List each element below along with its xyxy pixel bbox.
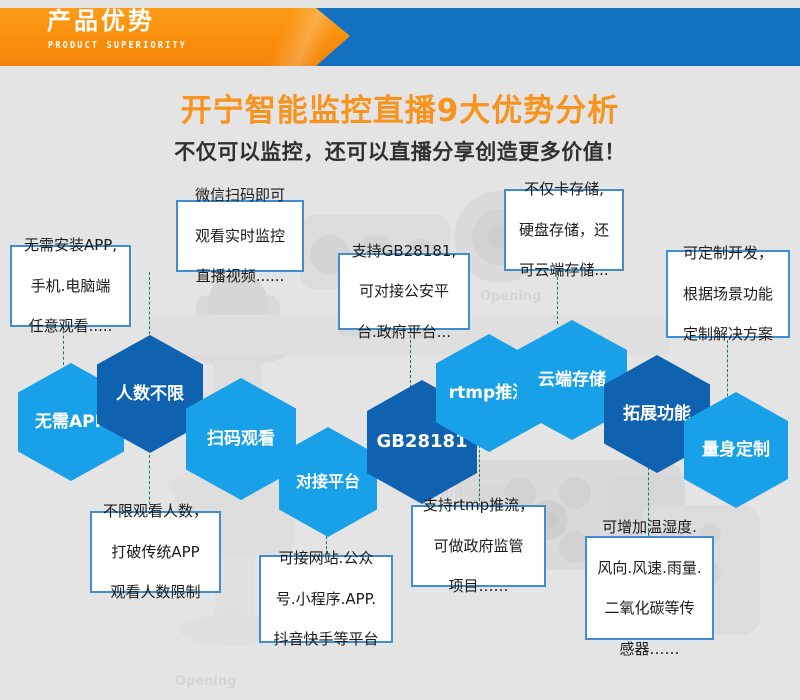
callout-cloud-storage: 不仅卡存储, 硬盘存储，还 可云端存储... (504, 189, 624, 271)
callout-no-app-text: 无需安装APP, 手机.电脑端 任意观看..... (24, 235, 117, 336)
callout-gb28181: 支持GB28181, 可对接公安平 台.政府平台... (338, 253, 470, 330)
hex-label-gb28181: GB28181 (372, 432, 471, 452)
product-superiority-infographic: 产品优势 PRODUCT SUPERIORITY 开宁智能监控直播9大优势分析 … (0, 0, 800, 700)
callout-sensors: 可增加温湿度. 风向.风速.雨量. 二氧化碳等传 感器…… (585, 536, 714, 640)
callout-cloud-storage-text: 不仅卡存储, 硬盘存储，还 可云端存储... (519, 179, 609, 280)
callout-sensors-text: 可增加温湿度. 风向.风速.雨量. 二氧化碳等传 感器…… (597, 517, 701, 659)
hex-label-extended-functions: 拓展功能 (619, 405, 695, 424)
callout-rtmp-text: 支持rtmp推流， 可做政府监管 项目…… (423, 495, 534, 596)
callout-wechat-scan-text: 微信扫码即可 观看实时监控 直播视频...... (195, 185, 285, 286)
page-subtitle: 不仅可以监控，还可以直播分享创造更多价值！ (0, 140, 800, 165)
callout-platforms: 可接网站.公众 号.小程序.APP. 抖音快手等平台 (259, 555, 393, 643)
hex-label-platform-integration: 对接平台 (292, 473, 364, 491)
callout-unlimited-viewers: 不限观看人数， 打破传统APP 观看人数限制 (90, 511, 221, 593)
hex-label-cloud-storage: 云端存储 (534, 371, 610, 390)
callout-customizable-text: 可定制开发， 根据场景功能 定制解决方案 (683, 243, 773, 344)
banner-title-english: PRODUCT SUPERIORITY (48, 41, 187, 51)
banner-title-chinese: 产品优势 (47, 9, 155, 33)
callout-customizable: 可定制开发， 根据场景功能 定制解决方案 (666, 250, 790, 338)
callout-platforms-text: 可接网站.公众 号.小程序.APP. 抖音快手等平台 (273, 548, 378, 649)
connector-customizable (727, 340, 728, 406)
hex-label-tailored-customization: 量身定制 (698, 441, 774, 460)
callout-gb28181-text: 支持GB28181, 可对接公安平 台.政府平台... (352, 241, 456, 342)
callout-no-app: 无需安装APP, 手机.电脑端 任意观看..... (10, 245, 131, 327)
callout-unlimited-viewers-text: 不限观看人数， 打破传统APP 观看人数限制 (103, 501, 208, 602)
page-title: 开宁智能监控直播9大优势分析 (0, 94, 800, 128)
hex-label-scan-to-watch: 扫码观看 (203, 430, 279, 449)
callout-wechat-scan: 微信扫码即可 观看实时监控 直播视频...... (176, 200, 304, 272)
callout-rtmp: 支持rtmp推流， 可做政府监管 项目…… (411, 505, 546, 587)
hex-label-unlimited-viewers: 人数不限 (112, 385, 188, 404)
svg-text:Opening: Opening (175, 674, 236, 689)
svg-text:Opening: Opening (480, 289, 541, 304)
